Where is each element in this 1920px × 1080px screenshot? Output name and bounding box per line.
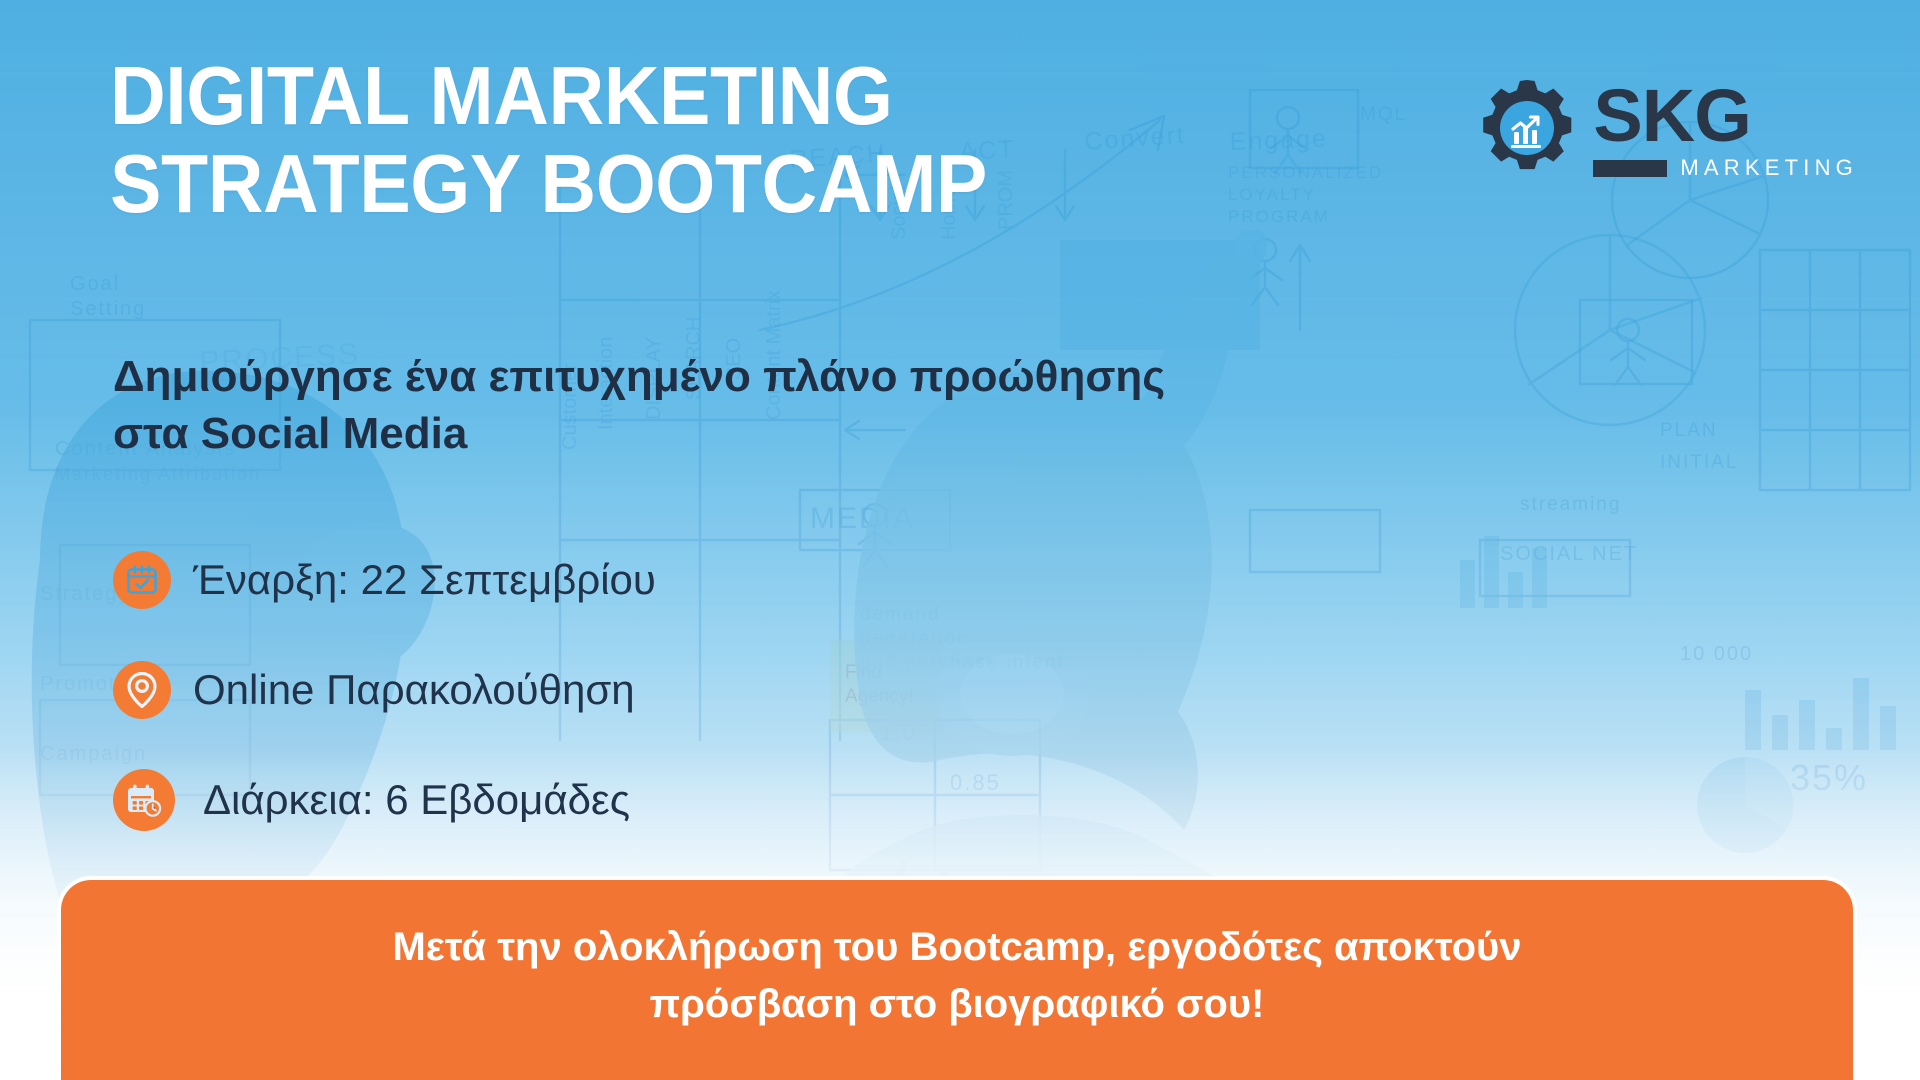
event-detail-duration: Διάρκεια: 6 Εβδομάδες [113,745,1113,855]
cta-line-2: πρόσβαση στο βιογραφικό σου! [392,976,1521,1033]
cta-line-1: Μετά την ολοκλήρωση του Bootcamp, εργοδό… [392,919,1521,976]
event-detail-label: Online Παρακολούθηση [193,669,635,711]
event-detail-label: Διάρκεια: 6 Εβδομάδες [203,779,630,821]
event-detail-label: Έναρξη: 22 Σεπτεμβρίου [193,559,656,601]
banner-content: DIGITAL MARKETING STRATEGY BOOTCAMP Δημι… [0,0,1920,1080]
event-details-list: Έναρξη: 22 Σεπτεμβρίου Online Παρακολούθ… [113,525,1113,855]
cta-banner: Μετά την ολοκλήρωση του Bootcamp, εργοδό… [57,876,1857,1080]
logo-bar [1593,160,1667,177]
logo-tagline: MARKETING [1680,157,1858,179]
logo-wordmark: SKG MARKETING [1593,82,1858,179]
title-line-1: DIGITAL MARKETING [110,52,1226,140]
calendar-clock-icon [113,769,175,831]
cta-message: Μετά την ολοκλήρωση του Bootcamp, εργοδό… [392,919,1521,1033]
page-title: DIGITAL MARKETING STRATEGY BOOTCAMP [110,52,1226,228]
subtitle-line-1: Δημιούργησε ένα επιτυχημένο πλάνο προώθη… [113,348,1563,405]
event-detail-location: Online Παρακολούθηση [113,635,1113,745]
logo-tagline-row: MARKETING [1593,157,1858,179]
skg-marketing-logo: SKG MARKETING [1475,76,1858,185]
calendar-check-icon [113,551,171,609]
page-subtitle: Δημιούργησε ένα επιτυχημένο πλάνο προώθη… [113,348,1563,462]
location-pin-icon [113,661,171,719]
event-detail-start-date: Έναρξη: 22 Σεπτεμβρίου [113,525,1113,635]
title-line-2: STRATEGY BOOTCAMP [110,140,1226,228]
gear-chart-icon [1475,76,1579,185]
logo-name: SKG [1593,82,1750,150]
promo-banner: REACH ACT Convert Engage PERSONALIZED LO… [0,0,1920,1080]
subtitle-line-2: στα Social Media [113,405,1563,462]
